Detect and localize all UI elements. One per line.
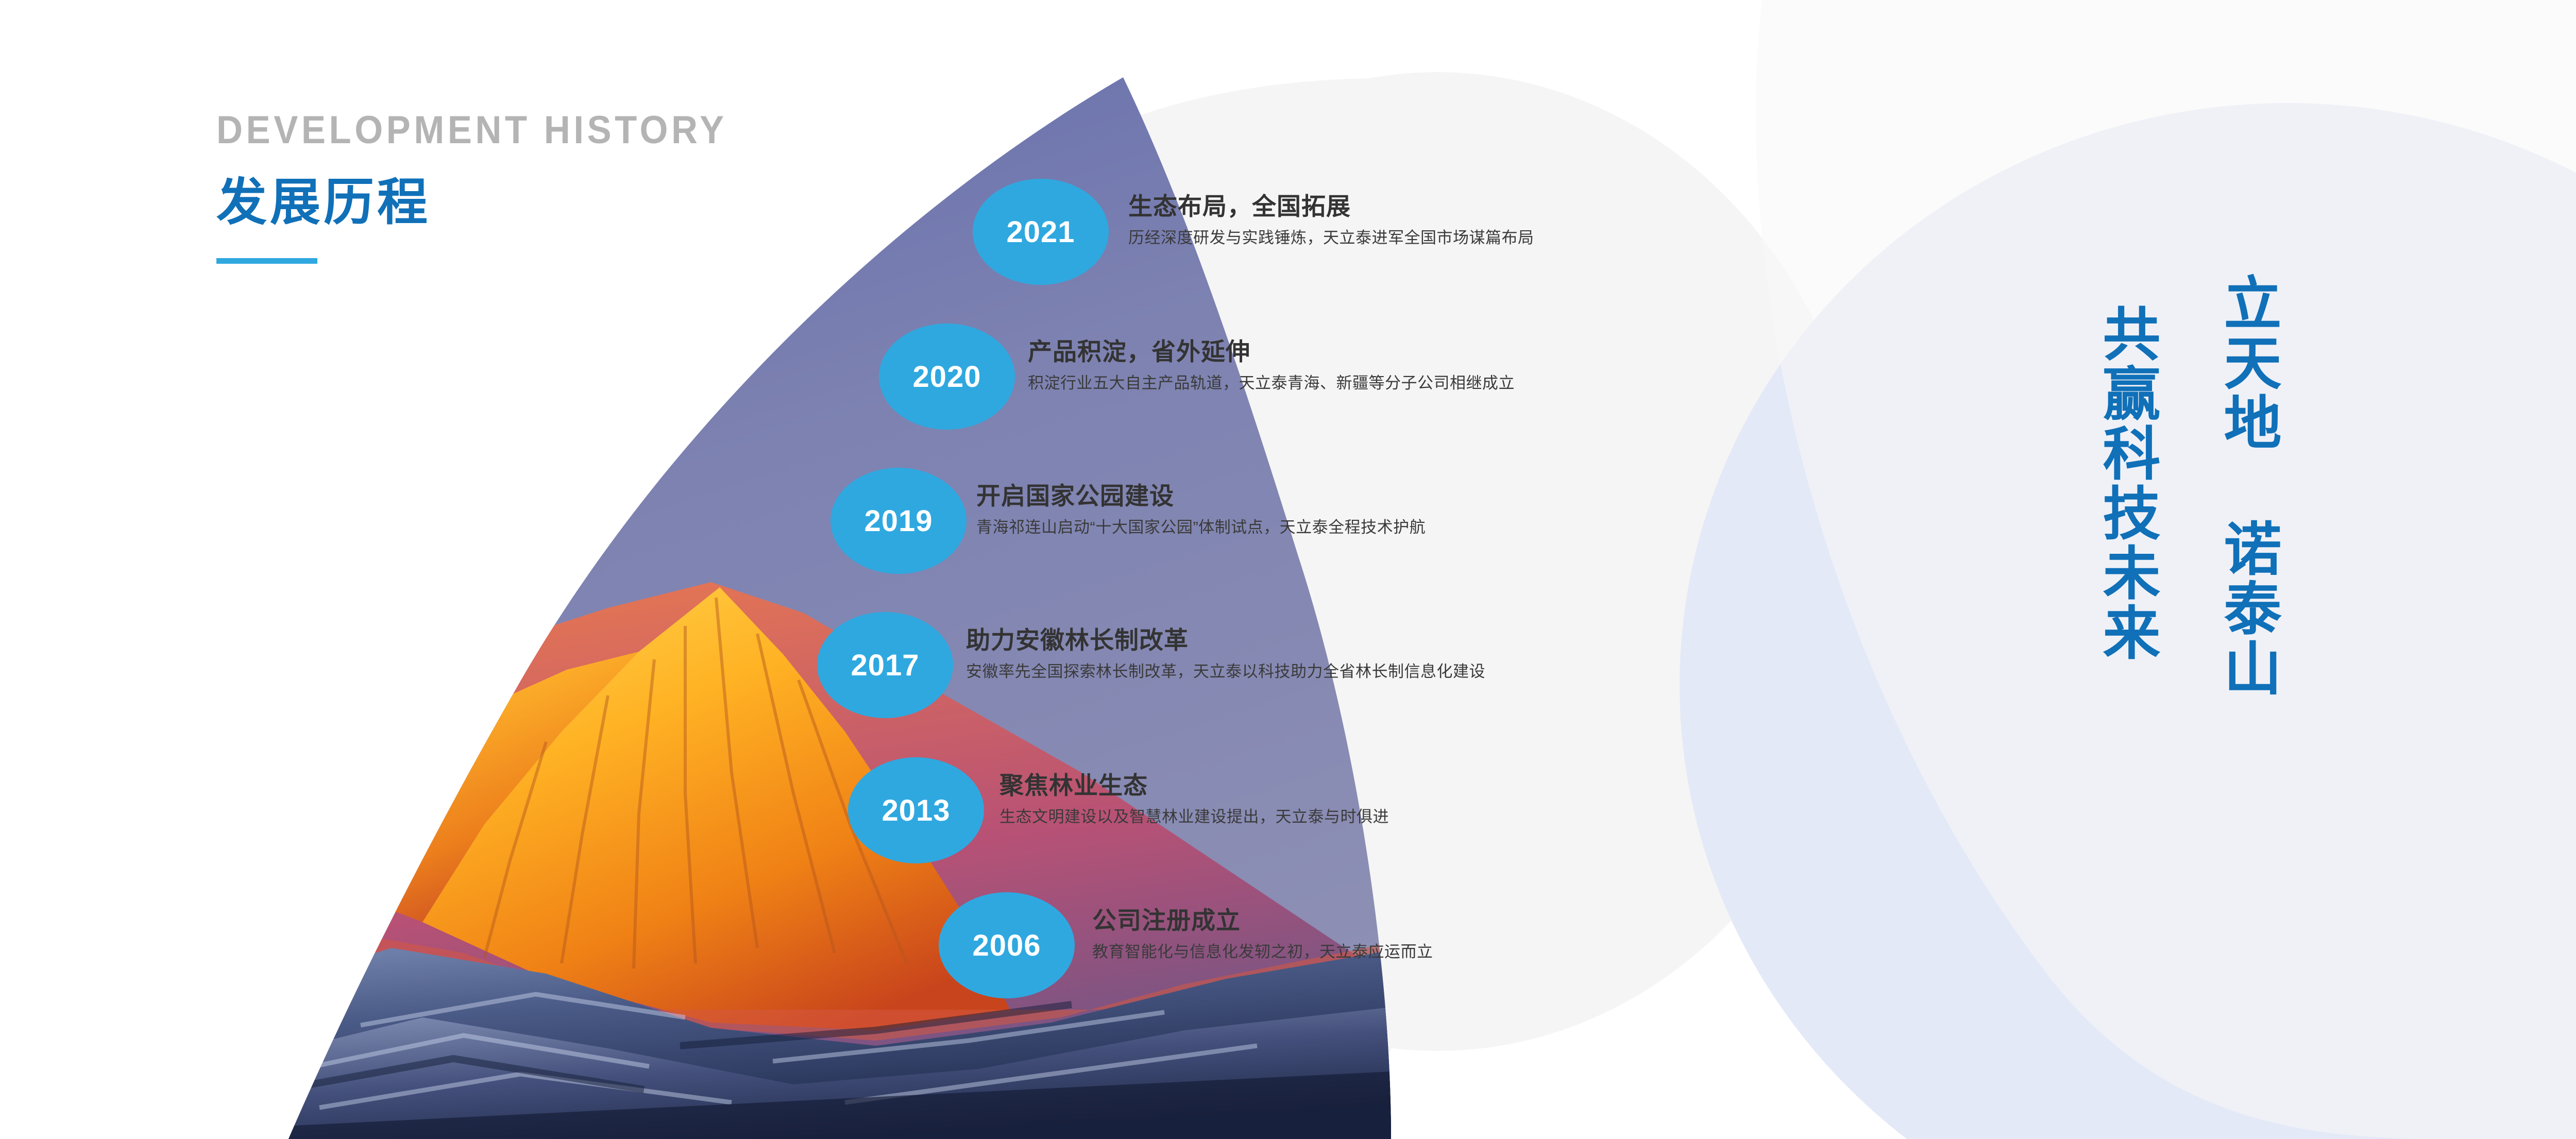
slogan-column-right: 立天地 诺泰山 — [2215, 273, 2280, 698]
page-title: 发展历程 — [216, 177, 766, 227]
entry-description: 教育智能化与信息化发轫之初，天立泰应运而立 — [1092, 943, 1433, 961]
entry-title: 生态布局，全国拓展 — [1128, 194, 1534, 219]
entry-title: 公司注册成立 — [1092, 908, 1433, 933]
entry-description: 历经深度研发与实践锤炼，天立泰进军全国市场谋篇布局 — [1128, 229, 1534, 247]
year-label: 2020 — [912, 360, 981, 394]
entry-title: 开启国家公园建设 — [976, 483, 1426, 508]
eyebrow-title: DEVELOPMENT HISTORY — [216, 111, 727, 150]
year-label: 2017 — [851, 648, 919, 683]
entry-title: 聚焦林业生态 — [999, 773, 1389, 798]
entry-description: 生态文明建设以及智慧林业建设提出，天立泰与时俱进 — [999, 808, 1389, 826]
year-label: 2013 — [882, 793, 950, 828]
year-label: 2021 — [1006, 215, 1075, 249]
year-badge: 2013 — [848, 757, 984, 863]
year-label: 2019 — [864, 504, 933, 538]
year-badge: 2021 — [973, 179, 1109, 285]
entry-title: 产品积淀，省外延伸 — [1028, 339, 1515, 364]
year-badge: 2020 — [879, 324, 1015, 430]
title-underline-rule — [216, 258, 317, 264]
year-badge: 2019 — [831, 468, 967, 574]
entry-description: 安徽率先全国探索林长制改革，天立泰以科技助力全省林长制信息化建设 — [966, 663, 1485, 681]
entry-description: 青海祁连山启动“十大国家公园”体制试点，天立泰全程技术护航 — [976, 519, 1426, 536]
year-badge: 2006 — [939, 892, 1075, 998]
year-badge: 2017 — [817, 612, 953, 718]
entry-title: 助力安徽林长制改革 — [966, 627, 1485, 653]
page-heading: DEVELOPMENT HISTORY 发展历程 — [216, 111, 766, 264]
entry-description: 积淀行业五大自主产品轨道，天立泰青海、新疆等分子公司相继成立 — [1028, 375, 1515, 392]
slide-canvas: DEVELOPMENT HISTORY 发展历程 2021 生态布局，全国拓展 … — [0, 0, 2576, 1139]
slogan-column-left: 共赢科技未来 — [2094, 304, 2159, 662]
year-label: 2006 — [972, 928, 1041, 963]
